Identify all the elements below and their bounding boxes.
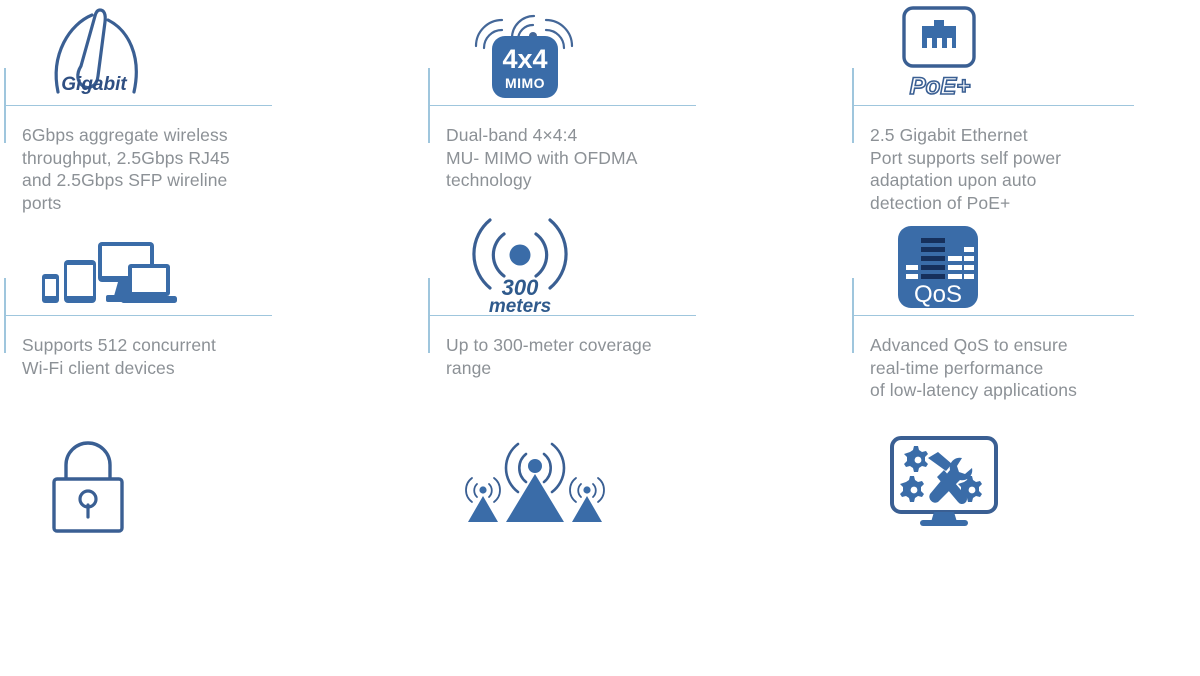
qos-equalizer-icon: QoS (870, 216, 1120, 320)
divider-vertical (428, 278, 430, 353)
divider-horizontal (4, 315, 272, 316)
multi-device-clients-icon (22, 222, 272, 326)
feature-description: Dual-band 4×4:4 MU- MIMO with OFDMA tech… (446, 124, 716, 192)
feature-description: 6Gbps aggregate wireless throughput, 2.5… (22, 124, 292, 214)
divider-horizontal (4, 105, 272, 106)
svg-text:meters: meters (489, 296, 551, 317)
feature-card-internal-antennas: Flexibility of 8 internal antennas (424, 420, 848, 676)
feature-card-mimo-ofdma: 4x4 MIMO Dual-band 4×4:4 MU- MIMO with O… (424, 0, 848, 210)
divider-vertical (852, 278, 854, 353)
broadcast-towers-antennas-icon (446, 426, 696, 534)
four-by-four-mimo-icon: 4x4 MIMO (446, 0, 696, 104)
divider-vertical (4, 278, 6, 353)
feature-description: Up to 300-meter coverage range (446, 334, 726, 379)
feature-card-secure-boot: Anti-hacking secure boot and critical da… (0, 420, 424, 676)
divider-horizontal (428, 315, 696, 316)
svg-text:Gigabit: Gigabit (61, 74, 127, 95)
feature-card-coverage-range: 300 meters Up to 300-meter coverage rang… (424, 210, 848, 420)
feature-card-embedded-controller: Embedded controller manages up to 50 loc… (848, 420, 1200, 676)
padlock-security-icon (22, 430, 272, 538)
divider-horizontal (852, 315, 1134, 316)
feature-card-advanced-qos: QoS Advanced QoS to ensure real-time per… (848, 210, 1200, 420)
feature-description: Advanced QoS to ensure real-time perform… (870, 334, 1170, 402)
divider-vertical (428, 68, 430, 143)
poe-plus-rj45-icon: PoE+ (870, 0, 1120, 104)
divider-horizontal (428, 105, 696, 106)
feature-card-poe-plus: PoE+ 2.5 Gigabit Ethernet Port supports … (848, 0, 1200, 210)
gigabit-wireless-arcs-icon: Gigabit (22, 0, 272, 104)
feature-grid: Gigabit 6Gbps aggregate wireless through… (0, 0, 1200, 676)
svg-text:PoE+: PoE+ (910, 73, 971, 100)
feature-card-gigabit-throughput: Gigabit 6Gbps aggregate wireless through… (0, 0, 424, 210)
feature-card-concurrent-clients: Supports 512 concurrent Wi-Fi client dev… (0, 210, 424, 420)
divider-horizontal (852, 105, 1134, 106)
three-hundred-meters-signal-icon: 300 meters (446, 210, 696, 314)
divider-vertical (4, 68, 6, 143)
svg-text:4x4: 4x4 (502, 44, 547, 74)
monitor-tools-management-icon (870, 428, 1120, 536)
feature-description: 2.5 Gigabit Ethernet Port supports self … (870, 124, 1170, 214)
feature-description: Supports 512 concurrent Wi-Fi client dev… (22, 334, 292, 379)
svg-text:QoS: QoS (914, 281, 962, 308)
divider-vertical (852, 68, 854, 143)
svg-text:MIMO: MIMO (505, 75, 545, 91)
